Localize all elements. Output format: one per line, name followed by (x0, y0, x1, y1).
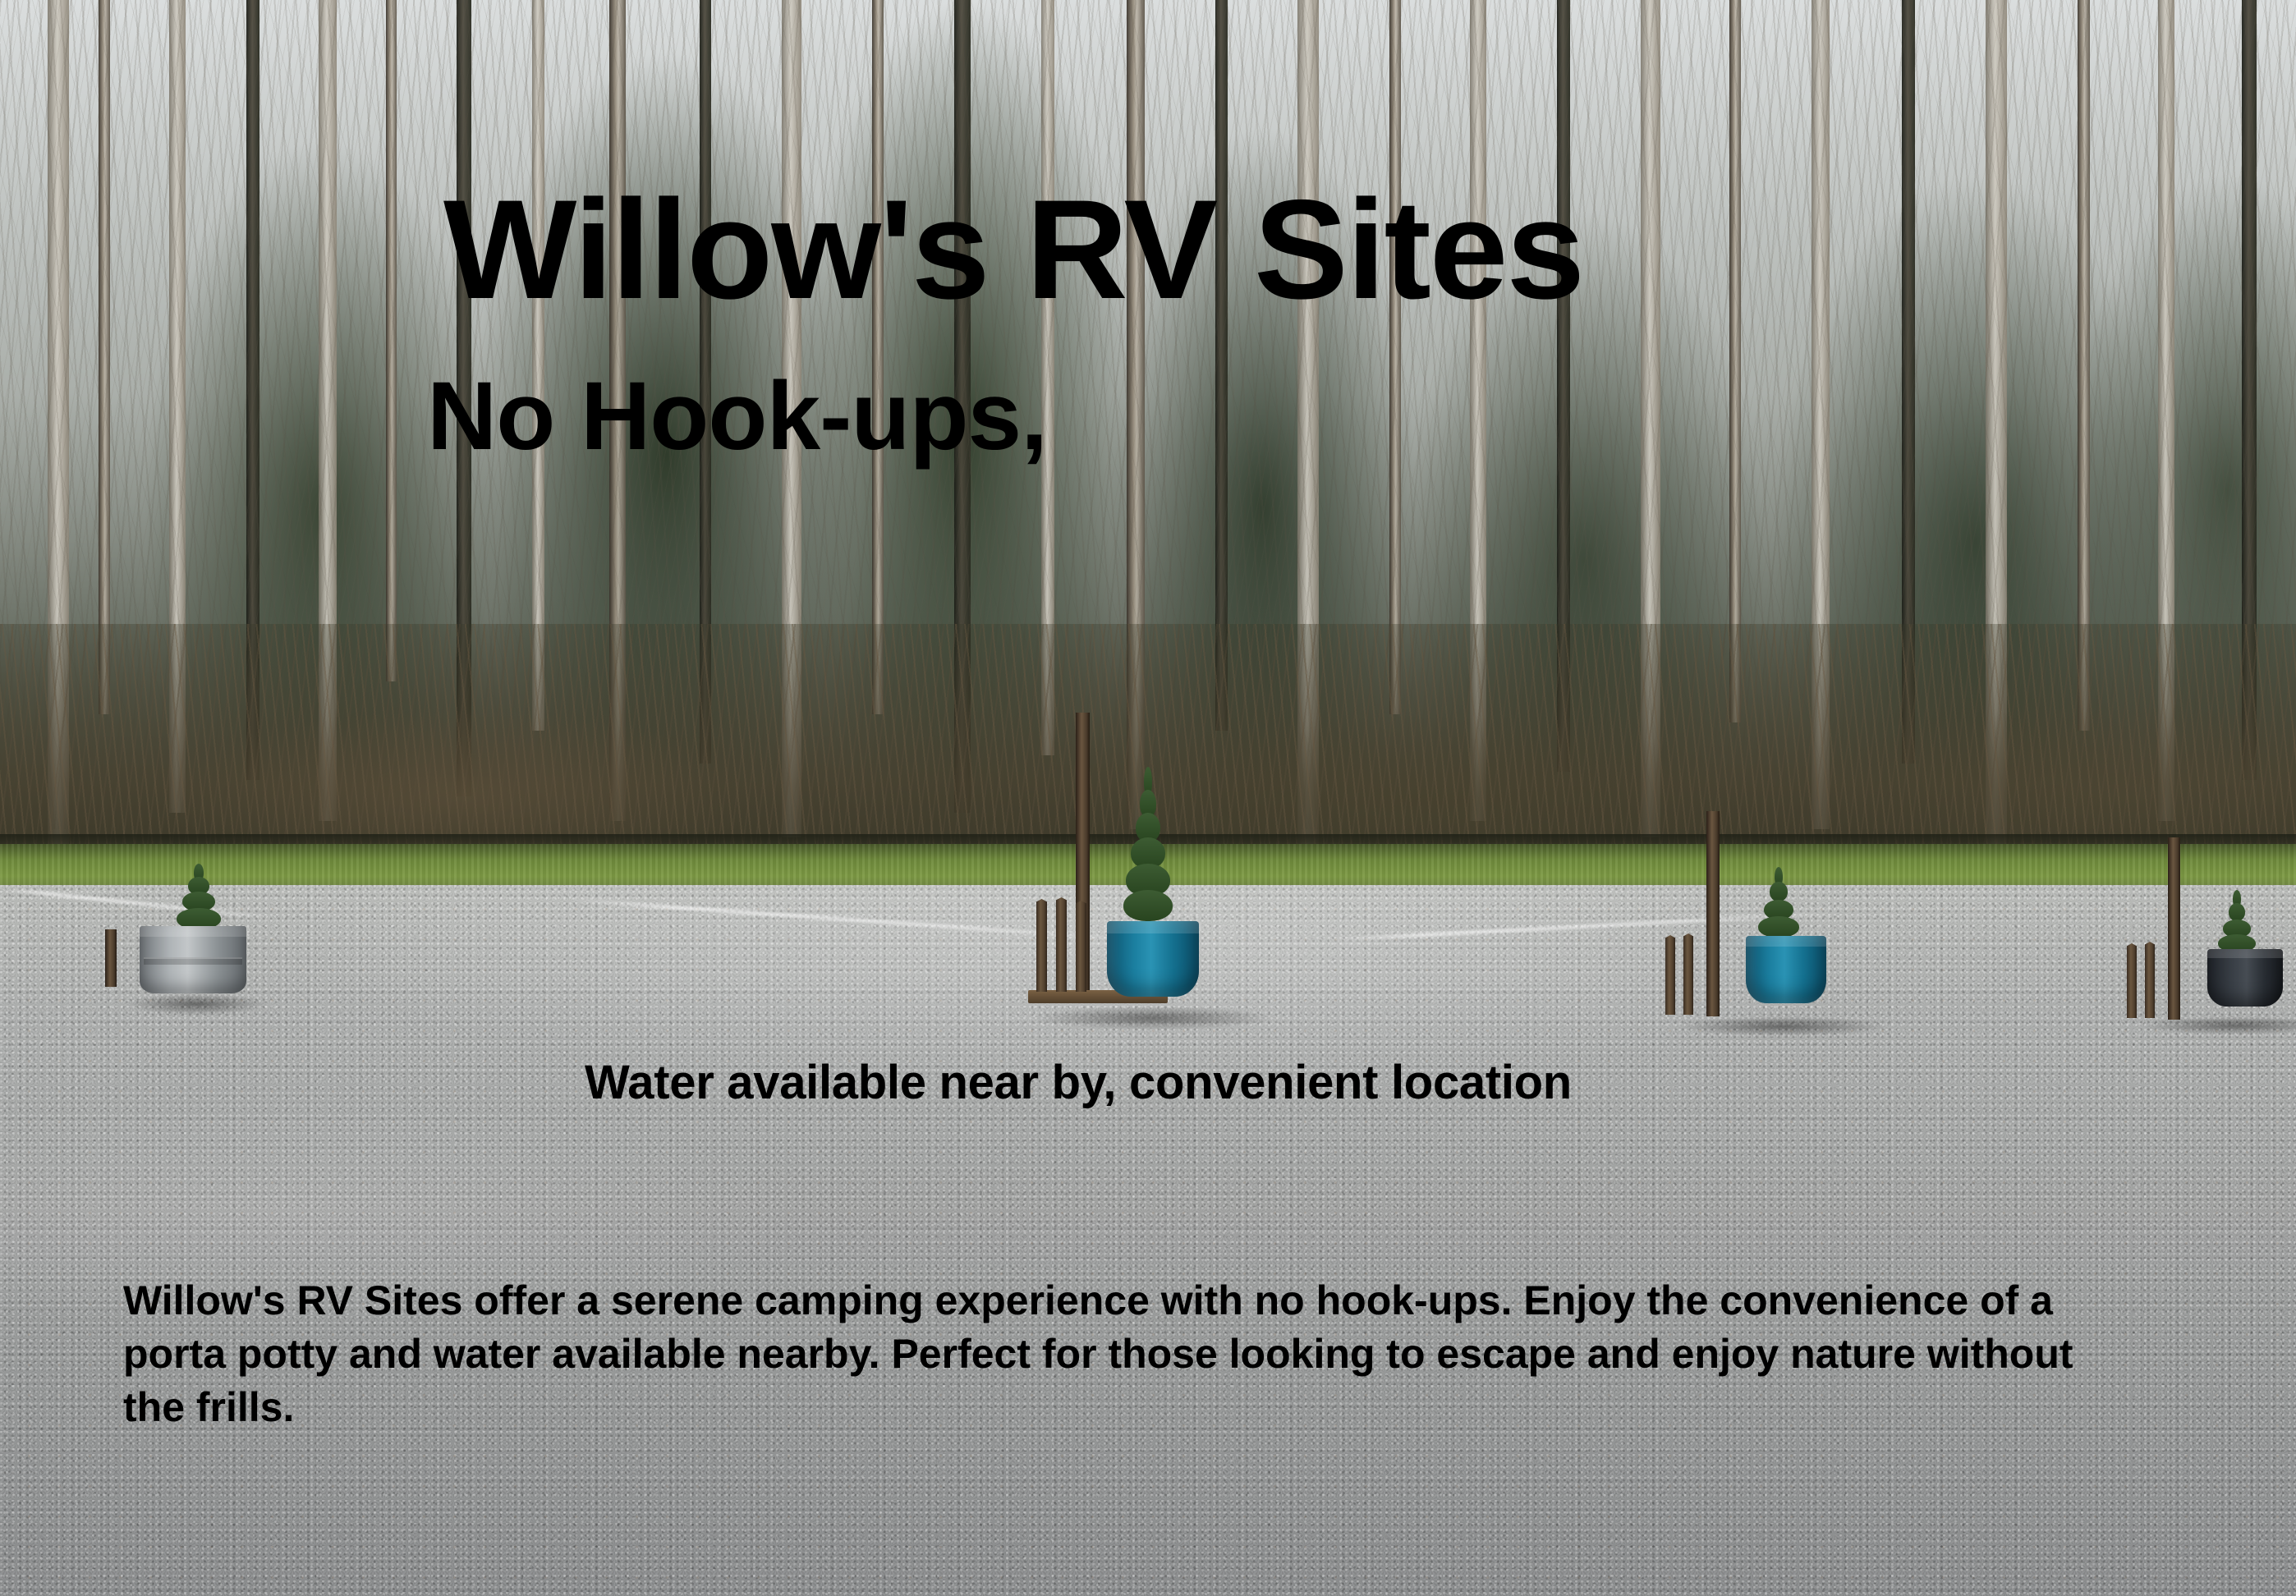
picket-marker (2127, 951, 2137, 1018)
conifer-sapling (1123, 767, 1173, 921)
picket-marker (1036, 906, 1047, 992)
teal-planter (1107, 921, 1199, 997)
picket-marker (1056, 905, 1067, 992)
conifer-sapling (1757, 867, 1800, 938)
rv-site-listing-image: Willow's RV Sites No Hook-ups, Water ava… (0, 0, 2296, 1596)
listing-description: Willow's RV Sites offer a serene camping… (123, 1274, 2143, 1434)
picket-marker (1683, 941, 1693, 1015)
picket-marker (2145, 949, 2155, 1018)
picket-marker (1076, 908, 1086, 992)
metal-tub-planter (140, 926, 246, 993)
site-stake (105, 929, 117, 987)
dark-planter (2207, 949, 2283, 1007)
picket-marker (1665, 942, 1675, 1015)
site-stake (2168, 837, 2180, 1020)
listing-title: Willow's RV Sites (443, 179, 1583, 320)
amenities-caption: Water available near by, convenient loca… (585, 1059, 1572, 1107)
teal-planter (1746, 936, 1826, 1003)
site-stake (1706, 811, 1720, 1016)
conifer-sapling (2217, 890, 2257, 951)
listing-subtitle: No Hook-ups, (427, 368, 1047, 465)
conifer-sapling (176, 864, 222, 931)
